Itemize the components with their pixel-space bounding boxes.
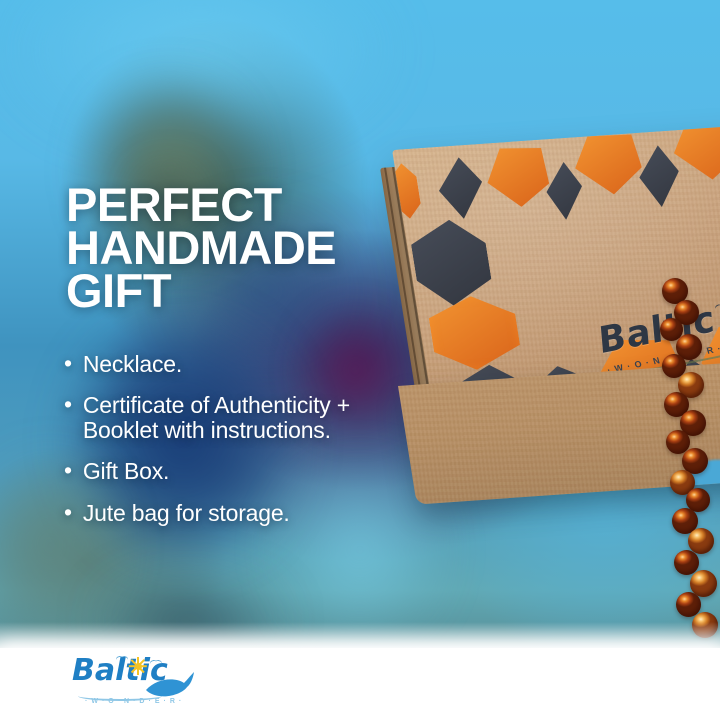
list-item-label: Necklace. (83, 352, 409, 376)
whale-icon (145, 672, 195, 700)
bird-icon (714, 301, 720, 309)
marketing-banner: Baltic ·W·O·N·D·E·R· (0, 0, 720, 720)
bullet-marker-icon: • (64, 352, 72, 375)
bullet-marker-icon: • (64, 459, 72, 482)
list-item-label: Jute bag for storage. (83, 501, 409, 525)
headline-line-3: GIFT (66, 269, 396, 312)
bullet-marker-icon: • (64, 501, 72, 524)
amber-bead-necklace (646, 330, 720, 660)
headline-line-1: PERFECT (66, 183, 396, 226)
list-item-label: Certificate of Authenticity + Booklet wi… (83, 393, 409, 442)
feature-list: • Necklace. • Certificate of Authenticit… (64, 352, 409, 542)
brand-logo: Baltic ·W·O·N·D·E·R· (72, 656, 192, 712)
footer-bar: Baltic ·W·O·N·D·E·R· (0, 648, 720, 720)
list-item-label: Gift Box. (83, 459, 409, 483)
bird-icon (150, 658, 162, 664)
list-item: • Certificate of Authenticity + Booklet … (64, 393, 409, 442)
list-item: • Jute bag for storage. (64, 501, 409, 525)
bird-icon (116, 654, 128, 660)
list-item: • Gift Box. (64, 459, 409, 483)
list-item: • Necklace. (64, 352, 409, 376)
headline: PERFECT HANDMADE GIFT (66, 183, 396, 313)
bullet-marker-icon: • (64, 393, 72, 416)
headline-line-2: HANDMADE (66, 226, 396, 269)
